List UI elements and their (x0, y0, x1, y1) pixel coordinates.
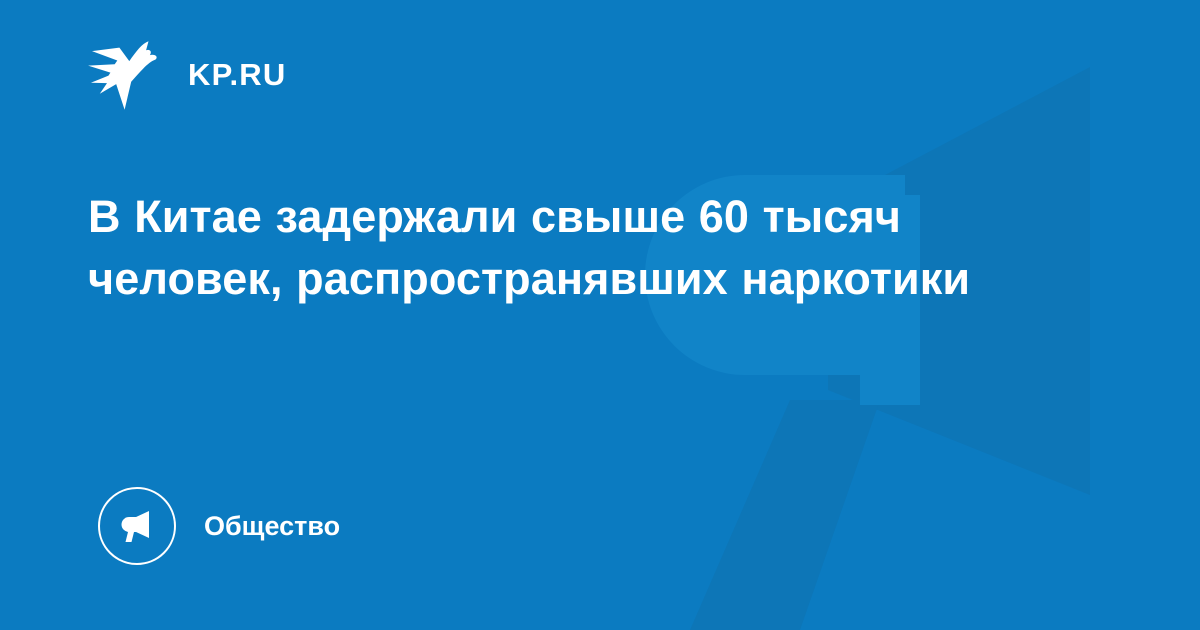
category-label: Общество (204, 513, 340, 540)
watermark-handle (690, 400, 880, 630)
brand-name: KP.RU (188, 59, 286, 90)
brand-header[interactable]: KP.RU (88, 34, 286, 114)
swallow-bird-icon (88, 37, 166, 111)
social-share-card: KP.RU В Китае задержали свыше 60 тысяч ч… (0, 0, 1200, 630)
page-title: В Китае задержали свыше 60 тысяч человек… (88, 186, 1098, 310)
megaphone-icon (116, 505, 158, 547)
category-icon-circle (98, 487, 176, 565)
category-badge[interactable]: Общество (98, 487, 340, 565)
